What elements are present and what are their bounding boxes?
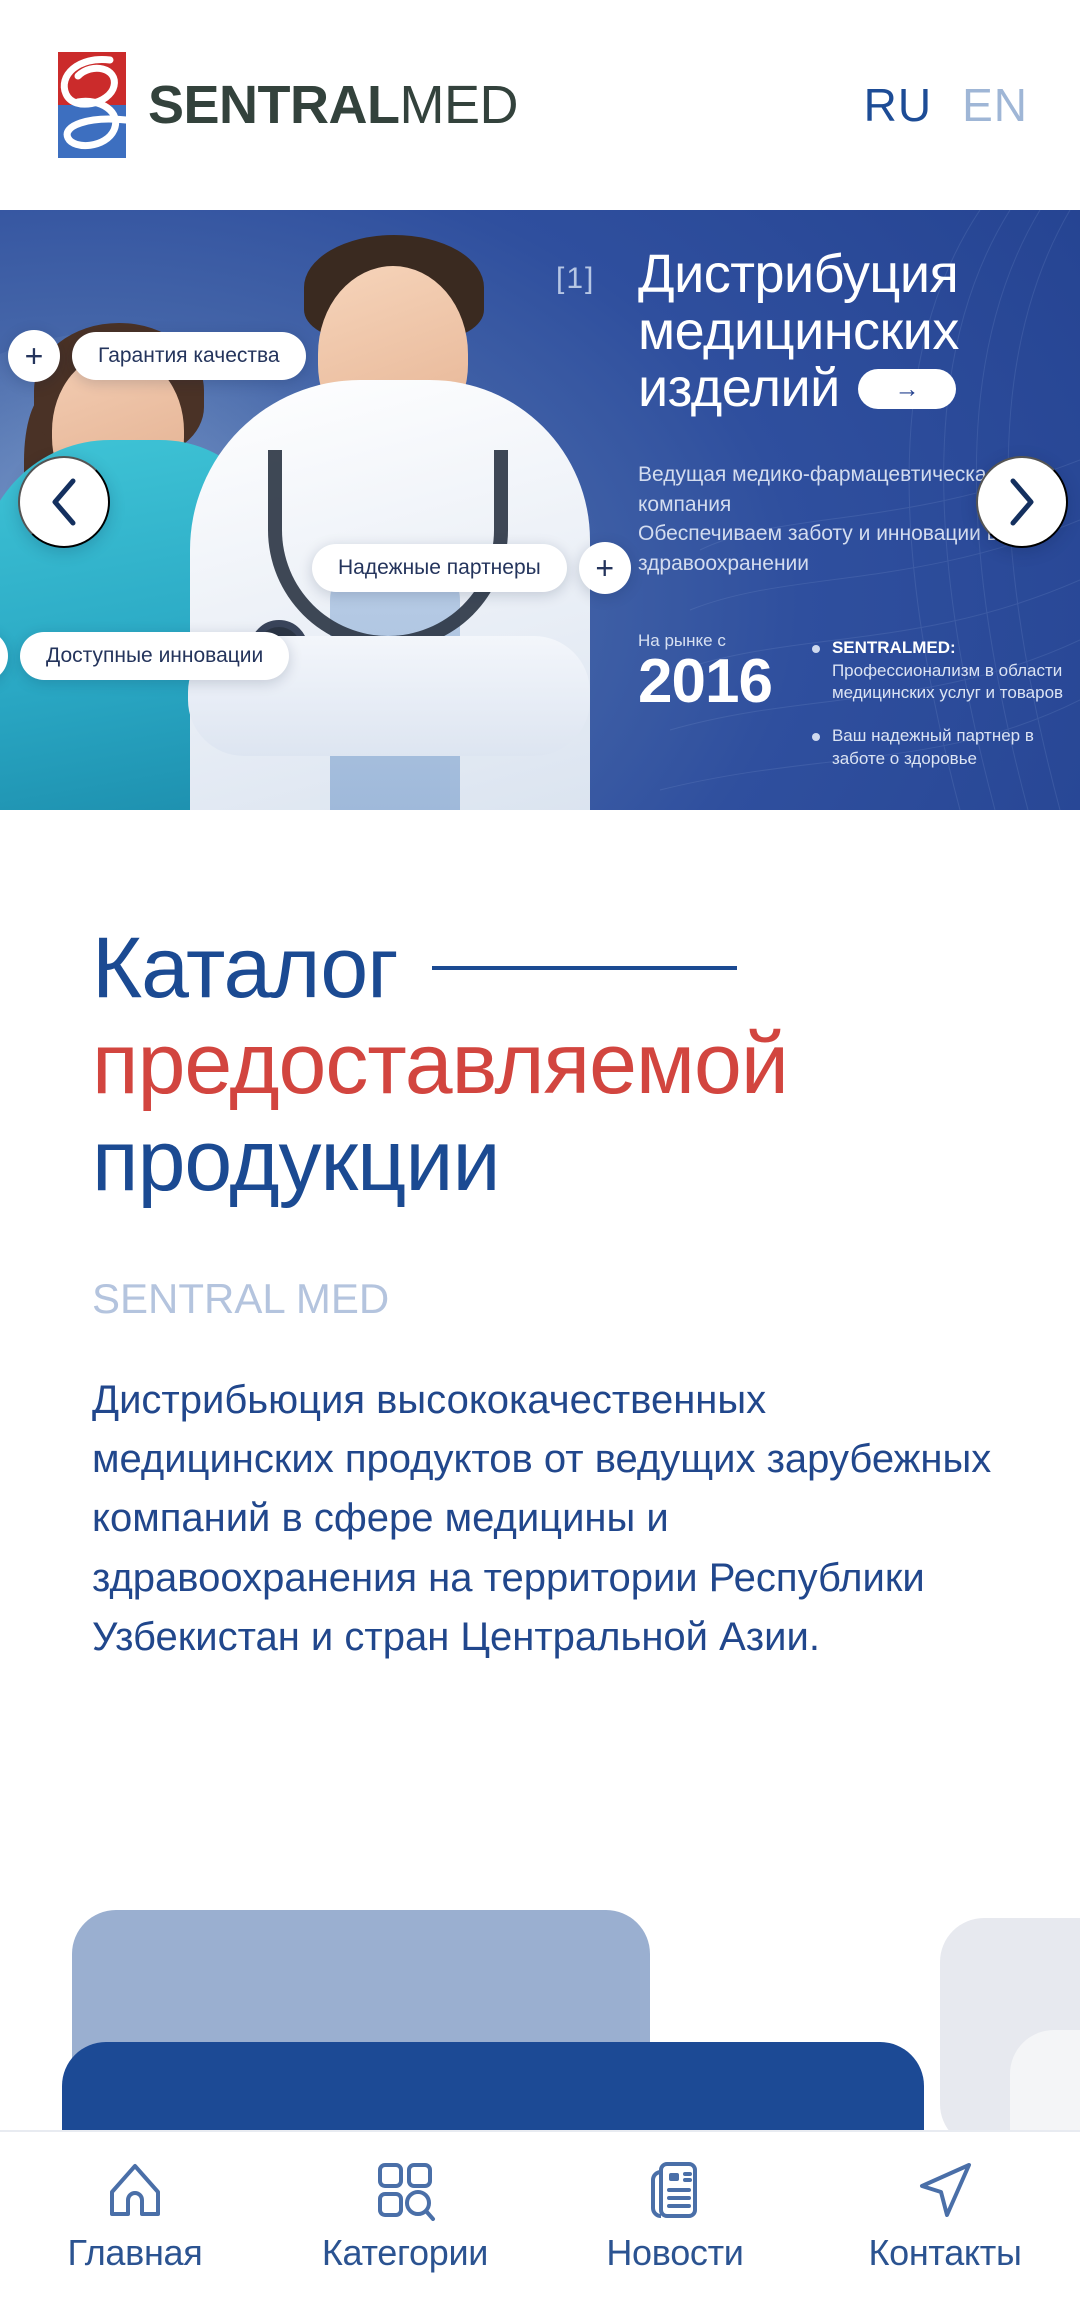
badge-quality-label: Гарантия качества [72, 332, 306, 380]
carousel-prev-button[interactable] [18, 456, 110, 548]
hero-title-line-1: Дистрибуция [638, 246, 1066, 303]
lang-en[interactable]: EN [962, 78, 1028, 132]
hero-carousel: [1] Дистрибуция медицинских изделий → Ве… [0, 210, 1080, 810]
nav-label-home: Главная [68, 2232, 203, 2274]
hero-title: Дистрибуция медицинских изделий → [638, 246, 1066, 418]
catalog-section: Каталог предоставляемой продукции SENTRA… [0, 810, 1080, 1667]
plus-icon[interactable]: + [0, 630, 8, 682]
hero-cta-arrow-button[interactable]: → [858, 369, 956, 409]
chevron-right-icon [1005, 477, 1039, 527]
hero-bullet-text-2: Ваш надежный партнер в заботе о здоровье [832, 725, 1066, 771]
home-icon [104, 2158, 166, 2222]
hero-stats: На рынке с 2016 SENTRALMED: Профессионал… [638, 631, 1066, 791]
hero-bullet-item: SENTRALMED: Профессионализм в области ме… [812, 637, 1066, 705]
logo-link[interactable]: SENTRALMED [58, 52, 518, 158]
hero-bullet-item: Ваш надежный партнер в заботе о здоровье [812, 725, 1066, 771]
nav-label-news: Новости [606, 2232, 743, 2274]
grid-search-icon [374, 2158, 436, 2222]
badge-quality[interactable]: + Гарантия качества [8, 330, 306, 382]
mobile-page: SENTRALMED RU EN [0, 0, 1080, 2304]
heading-word-provided: предоставляемой [92, 1016, 990, 1112]
badge-partners[interactable]: Надежные партнеры + [312, 542, 631, 594]
hero-bullet-strong: SENTRALMED: [832, 638, 956, 657]
heading-word-products: продукции [92, 1113, 990, 1209]
language-switcher[interactable]: RU EN [864, 78, 1028, 132]
plus-icon[interactable]: + [8, 330, 60, 382]
bullet-dot-icon [812, 733, 820, 741]
hero-since-block: На рынке с 2016 [638, 631, 772, 791]
hero-bullet-rest: Профессионализм в области медицинских ус… [832, 661, 1063, 703]
nav-label-contacts: Контакты [868, 2232, 1021, 2274]
heading-word-catalog: Каталог [92, 920, 398, 1016]
catalog-card-stack [0, 1890, 1080, 2170]
nav-item-categories[interactable]: Категории [280, 2158, 530, 2274]
catalog-heading: Каталог предоставляемой продукции [0, 810, 1080, 1209]
newspaper-icon [644, 2158, 706, 2222]
sentralmed-logo-icon [58, 52, 126, 158]
lang-ru[interactable]: RU [864, 78, 932, 132]
catalog-body-text: Дистрибьюция высококачественных медицинс… [92, 1371, 992, 1667]
since-year: 2016 [638, 653, 772, 710]
badge-innovations-label: Доступные инновации [20, 632, 289, 680]
send-icon [914, 2158, 976, 2222]
nav-item-contacts[interactable]: Контакты [820, 2158, 1070, 2274]
hero-title-line-3: изделий [638, 360, 840, 417]
hero-slide-index: [1] [556, 262, 595, 296]
badge-partners-label: Надежные партнеры [312, 544, 567, 592]
bottom-navigation: Главная Категории [0, 2130, 1080, 2304]
catalog-eyebrow: SENTRAL MED [92, 1275, 1080, 1323]
chevron-left-icon [47, 477, 81, 527]
site-header: SENTRALMED RU EN [0, 0, 1080, 210]
hero-bullet-text: SENTRALMED: Профессионализм в области ме… [832, 637, 1066, 705]
plus-icon[interactable]: + [579, 542, 631, 594]
nav-item-news[interactable]: Новости [550, 2158, 800, 2274]
brand-bold: SENTRAL [148, 78, 400, 132]
carousel-next-button[interactable] [976, 456, 1068, 548]
brand-light: MED [400, 78, 519, 132]
nav-label-categories: Категории [322, 2232, 488, 2274]
nav-item-home[interactable]: Главная [10, 2158, 260, 2274]
badge-innovations[interactable]: + Доступные инновации [0, 630, 289, 682]
hero-title-line-2: медицинских [638, 303, 1066, 360]
hero-bullet-list: SENTRALMED: Профессионализм в области ме… [812, 631, 1066, 791]
brand-wordmark: SENTRALMED [148, 78, 518, 132]
bullet-dot-icon [812, 645, 820, 653]
heading-rule [432, 966, 737, 970]
